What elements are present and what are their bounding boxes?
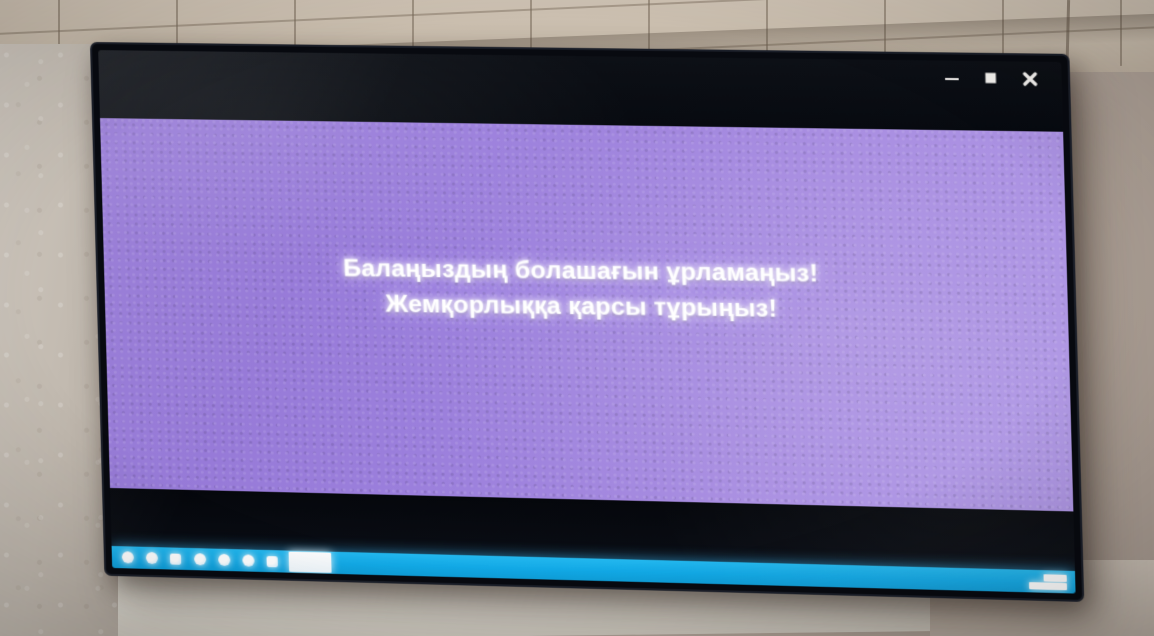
task-view-icon[interactable] xyxy=(165,549,187,569)
television: Балаңыздың болашағын ұрламаңыз! Жемқорлы… xyxy=(92,44,1082,600)
search-icon[interactable] xyxy=(141,548,163,568)
tray-clock-time[interactable] xyxy=(1043,574,1066,582)
tray-clock-date[interactable] xyxy=(1029,582,1067,590)
start-icon[interactable] xyxy=(117,548,139,568)
close-icon[interactable] xyxy=(1020,70,1038,88)
system-tray[interactable] xyxy=(1029,573,1076,590)
mail-icon[interactable] xyxy=(237,551,259,571)
room-photo: Балаңыздың болашағын ұрламаңыз! Жемқорлы… xyxy=(0,0,1154,636)
taskbar-active-window-button[interactable] xyxy=(289,552,332,573)
presentation-slide: Балаңыздың болашағын ұрламаңыз! Жемқорлы… xyxy=(100,118,1073,511)
slide-text-block: Балаңыздың болашағын ұрламаңыз! Жемқорлы… xyxy=(103,249,1068,331)
browser-icon[interactable] xyxy=(189,549,211,569)
minimize-icon[interactable] xyxy=(943,69,961,87)
tv-screen: Балаңыздың болашағын ұрламаңыз! Жемқорлы… xyxy=(98,50,1075,593)
window-controls xyxy=(943,69,1039,88)
app-icon[interactable] xyxy=(261,551,283,571)
maximize-icon[interactable] xyxy=(982,69,1000,87)
folder-icon[interactable] xyxy=(213,550,235,570)
